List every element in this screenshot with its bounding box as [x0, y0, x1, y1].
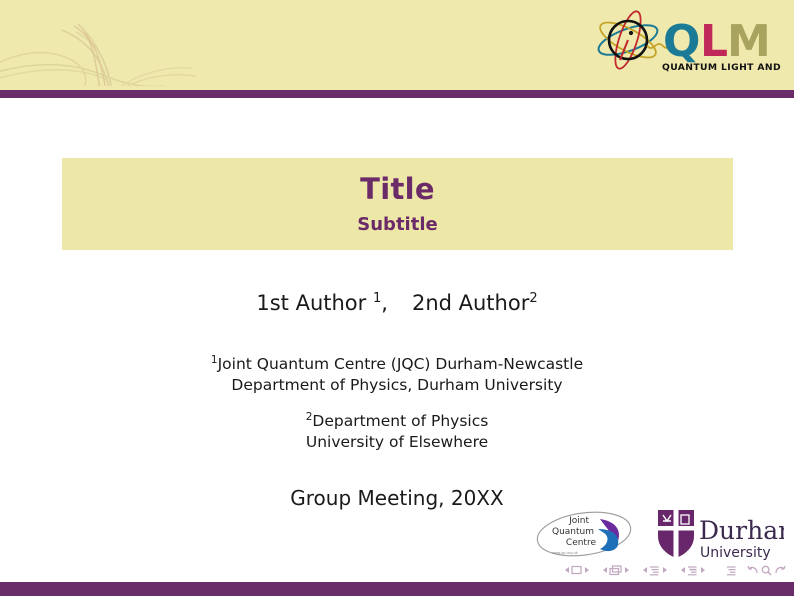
durham-wordmark: Durham — [699, 516, 784, 545]
jqc-arc-text: www.jqc.org.uk — [552, 551, 578, 555]
affiliation-2-text: Department of Physics — [312, 412, 488, 430]
author-2-name: 2nd Author — [412, 291, 529, 315]
svg-text:Quantum: Quantum — [552, 527, 594, 537]
title-block: Title Subtitle — [62, 158, 733, 250]
qlm-logo: Q L M QUANTUM LIGHT AND MATTER — [596, 10, 782, 76]
section-next-arrow-icon[interactable] — [701, 567, 705, 573]
durham-shield-icon — [658, 510, 694, 558]
frame-next-arrow-icon[interactable] — [625, 567, 629, 573]
slide-next-arrow-icon[interactable] — [585, 567, 589, 573]
search-icon[interactable] — [761, 565, 772, 576]
frame-prev-arrow-icon[interactable] — [603, 567, 607, 573]
beamer-navigation-bar[interactable] — [562, 562, 786, 578]
durham-university-text: University — [700, 545, 771, 561]
slide-header: Q L M QUANTUM LIGHT AND MATTER — [0, 0, 794, 86]
svg-text:M: M — [727, 16, 771, 67]
affiliation-1-mark: 1 — [211, 354, 218, 366]
author-line: 1st Author 1,2nd Author2 — [0, 291, 794, 315]
affiliation-2: 2Department of Physics University of Els… — [0, 411, 794, 452]
subsection-icon[interactable] — [649, 565, 660, 576]
subsection-next-arrow-icon[interactable] — [663, 567, 667, 573]
header-purple-bar — [0, 90, 794, 98]
author-2-mark: 2 — [529, 291, 537, 306]
affiliation-1-text: Joint Quantum Centre (JQC) Durham-Newcas… — [218, 355, 584, 373]
jqc-logo: Joint Quantum Centre www.jqc.org.uk — [534, 510, 634, 558]
affiliation-1-line-1: 1Joint Quantum Centre (JQC) Durham-Newca… — [0, 354, 794, 375]
affiliation-2-line-1: 2Department of Physics — [0, 411, 794, 432]
section-navigation[interactable] — [678, 565, 707, 576]
slide-navigation[interactable] — [562, 565, 591, 575]
slide-icon[interactable] — [571, 565, 582, 575]
affiliation-2-line-2: University of Elsewhere — [0, 432, 794, 452]
subsection-prev-arrow-icon[interactable] — [643, 567, 647, 573]
author-separator: , — [381, 291, 388, 315]
page-title: Title — [360, 175, 435, 204]
durham-university-logo: Durham University — [654, 506, 784, 562]
affiliation-1-line-2: Department of Physics, Durham University — [0, 375, 794, 395]
page-subtitle: Subtitle — [357, 216, 437, 234]
decorative-swirls — [0, 4, 250, 86]
section-prev-arrow-icon[interactable] — [681, 567, 685, 573]
forward-arrow-icon[interactable] — [774, 565, 786, 576]
document-icon[interactable] — [726, 565, 737, 576]
back-arrow-icon[interactable] — [747, 565, 759, 576]
slide-prev-arrow-icon[interactable] — [565, 567, 569, 573]
subsection-navigation[interactable] — [640, 565, 669, 576]
footer-purple-bar — [0, 582, 794, 596]
frame-icon[interactable] — [609, 565, 622, 576]
svg-text:Joint: Joint — [568, 516, 589, 526]
svg-text:Centre: Centre — [566, 538, 597, 548]
section-icon[interactable] — [687, 565, 698, 576]
svg-text:Q: Q — [663, 16, 700, 67]
frame-navigation[interactable] — [600, 565, 631, 576]
svg-text:QUANTUM LIGHT AND MATTER: QUANTUM LIGHT AND MATTER — [662, 62, 782, 73]
svg-text:L: L — [700, 16, 728, 67]
affiliation-1: 1Joint Quantum Centre (JQC) Durham-Newca… — [0, 354, 794, 395]
author-1-name: 1st Author — [256, 291, 366, 315]
